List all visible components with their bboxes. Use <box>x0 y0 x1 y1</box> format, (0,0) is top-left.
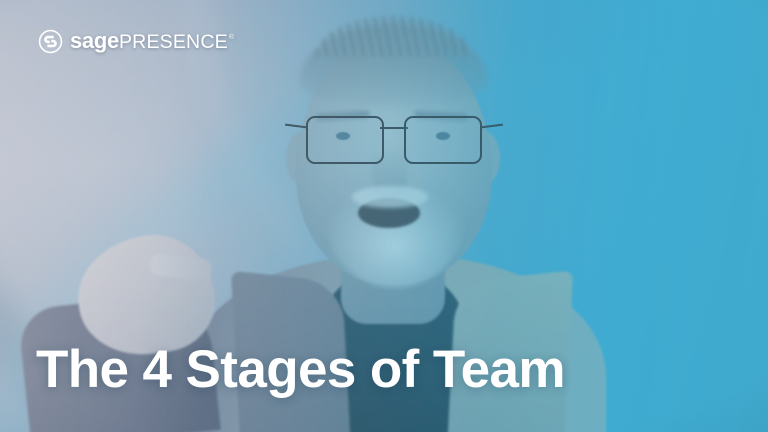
brand-name-primary: sage <box>70 30 119 52</box>
page-title: The 4 Stages of Team <box>36 343 565 396</box>
video-thumbnail: sage PRESENCE ® The 4 Stages of Team <box>0 0 768 432</box>
registered-trademark-symbol: ® <box>229 34 234 41</box>
brand-logo[interactable]: sage PRESENCE ® <box>38 29 233 54</box>
sage-circle-monogram-icon <box>38 29 63 54</box>
brand-wordmark: sage PRESENCE ® <box>70 30 233 53</box>
brand-name-secondary: PRESENCE <box>119 33 228 53</box>
